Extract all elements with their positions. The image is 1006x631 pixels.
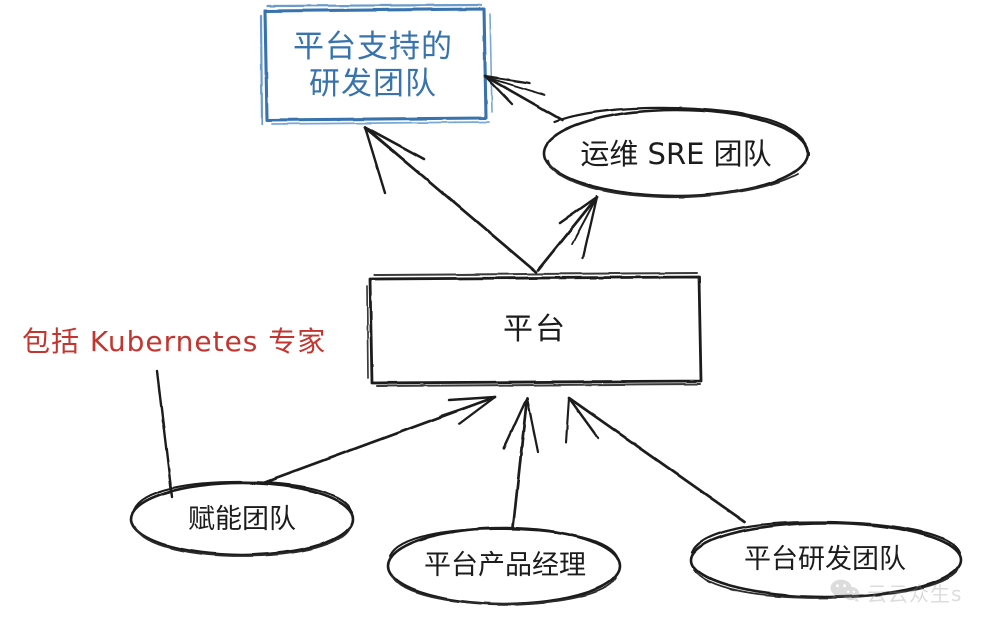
edge-platform-dev-team-to-platform: [566, 398, 745, 522]
edge-sre-team-to-supported-dev-team: [485, 76, 562, 120]
annotation-leader-line: [157, 371, 172, 497]
node-platform-shape: [367, 273, 701, 386]
diagram-drawing: [0, 0, 1006, 631]
edge-platform-product-manager-to-platform: [504, 398, 538, 528]
node-platform-dev-team-shape: [691, 522, 961, 598]
node-sre-team-shape: [544, 108, 809, 197]
node-platform-product-manager-shape: [388, 528, 620, 604]
node-enablement-team-shape: [131, 482, 353, 556]
edge-platform-to-sre-team: [538, 197, 597, 270]
edge-enablement-team-to-platform: [262, 397, 495, 483]
node-supported-dev-team-shape: [261, 5, 492, 124]
diagram-canvas: 平台支持的 研发团队 运维 SRE 团队 平台 赋能团队 平台产品经理 平台研发…: [0, 0, 1006, 631]
edge-platform-to-supported-dev-team: [365, 127, 536, 272]
